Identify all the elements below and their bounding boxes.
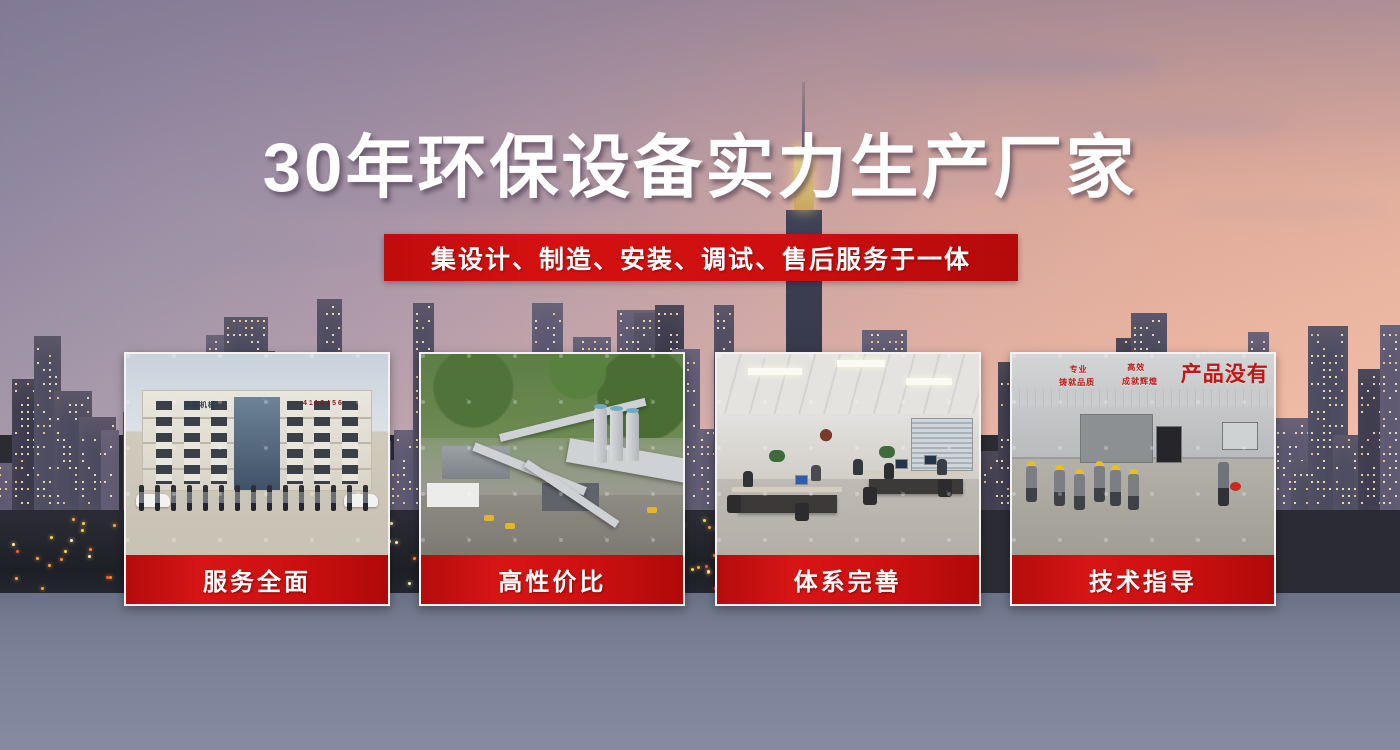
card-caption: 技术指导	[1012, 555, 1274, 604]
card-caption-text: 技术指导	[1089, 562, 1197, 597]
feature-card[interactable]: 高性价比	[419, 352, 685, 606]
factory-slogan-c: 铸就品质	[1059, 377, 1095, 388]
card-photo-office-room	[717, 354, 979, 555]
feature-card[interactable]: 体系完善	[715, 352, 981, 606]
subtitle-text: 集设计、制造、安装、调试、售后服务于一体	[431, 240, 971, 276]
building-entrance	[234, 397, 280, 490]
card-caption: 服务全面	[126, 555, 388, 604]
factory-slogan-d: 成就辉煌	[1122, 376, 1158, 387]
office-building: 中基机械 4113456	[142, 390, 373, 491]
banner-stage: 30年环保设备实力生产厂家 集设计、制造、安装、调试、售后服务于一体	[0, 0, 1400, 750]
factory-slogan-a: 专业	[1070, 364, 1088, 375]
factory-slogan-main: 产品没有	[1181, 358, 1269, 388]
page-title: 30年环保设备实力生产厂家	[0, 133, 1400, 202]
building-phone-label: 4113456	[303, 400, 344, 407]
subtitle-banner: 集设计、制造、安装、调试、售后服务于一体	[384, 234, 1018, 281]
river-water	[0, 593, 1400, 750]
building-sign-label: 中基机械	[184, 400, 216, 410]
card-caption-text: 高性价比	[498, 562, 606, 597]
feature-card[interactable]: 产品没有 专业 高效 铸就品质 成就辉煌 技术指导	[1010, 352, 1276, 606]
feature-card-list: 中基机械 4113456 服务全面	[124, 352, 1276, 606]
card-caption-text: 体系完善	[794, 562, 902, 597]
wall-logo	[811, 422, 841, 444]
factory-slogan-b: 高效	[1127, 362, 1145, 373]
feature-card[interactable]: 中基机械 4113456 服务全面	[124, 352, 390, 606]
card-photo-company-building: 中基机械 4113456	[126, 354, 388, 555]
card-caption-text: 服务全面	[203, 562, 311, 597]
card-caption: 体系完善	[717, 555, 979, 604]
card-caption: 高性价比	[421, 555, 683, 604]
card-photo-production-base	[421, 354, 683, 555]
card-photo-technical-guidance: 产品没有 专业 高效 铸就品质 成就辉煌	[1012, 354, 1274, 555]
factory-yard	[1012, 459, 1274, 555]
